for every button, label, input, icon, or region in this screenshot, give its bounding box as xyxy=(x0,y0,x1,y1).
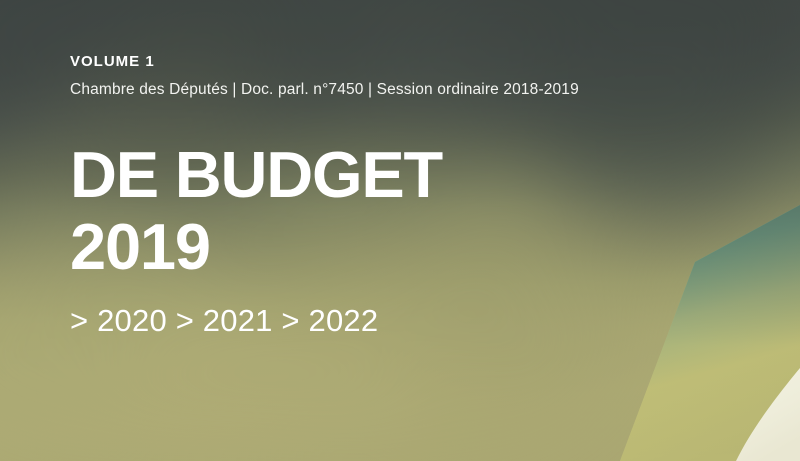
cover-title-line-1: DE BUDGET xyxy=(70,138,442,211)
cover-text-block: VOLUME 1 Chambre des Députés | Doc. parl… xyxy=(70,0,690,461)
document-subtitle: Chambre des Députés | Doc. parl. n°7450 … xyxy=(70,81,579,99)
cover-title-line-2: 2019 xyxy=(70,211,442,283)
forecast-years-line: > 2020 > 2021 > 2022 xyxy=(70,303,378,339)
cover-title: DE BUDGET 2019 xyxy=(70,139,442,283)
volume-label: VOLUME 1 xyxy=(70,53,155,70)
budget-cover: VOLUME 1 Chambre des Députés | Doc. parl… xyxy=(0,0,800,461)
